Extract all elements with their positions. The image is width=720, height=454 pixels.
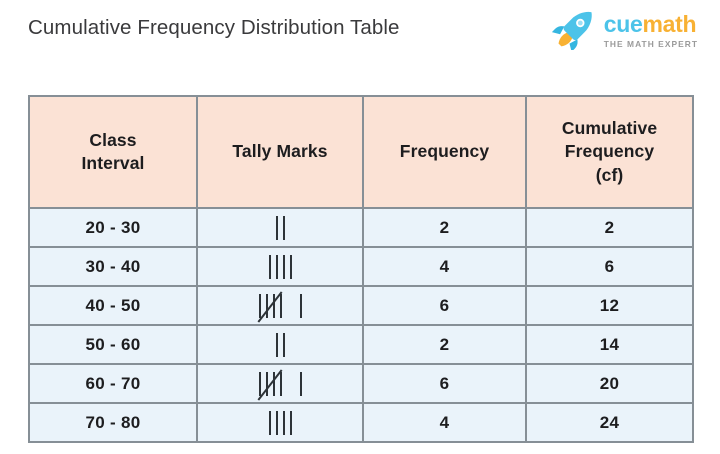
frequency-table-container: Class Interval Tally Marks Frequency Cum… — [28, 95, 692, 443]
tally-mark — [300, 372, 302, 396]
table-row: 50 - 60214 — [29, 325, 693, 364]
table-row: 30 - 4046 — [29, 247, 693, 286]
tally-mark — [273, 372, 275, 396]
tally-marks — [273, 326, 287, 363]
cell-cumulative-frequency: 6 — [526, 247, 693, 286]
tally-group — [297, 371, 304, 397]
cell-tally-marks — [197, 403, 363, 442]
column-header-class-interval: Class Interval — [29, 96, 197, 208]
column-header-cumulative-frequency: Cumulative Frequency (cf) — [526, 96, 693, 208]
cell-class-interval: 40 - 50 — [29, 286, 197, 325]
tally-mark — [276, 411, 278, 435]
cell-frequency: 4 — [363, 247, 526, 286]
cell-class-interval: 70 - 80 — [29, 403, 197, 442]
cell-tally-marks — [197, 286, 363, 325]
cell-cumulative-frequency: 20 — [526, 364, 693, 403]
cuemath-logo: cuemath THE MATH EXPERT — [551, 10, 698, 50]
table-row: 20 - 3022 — [29, 208, 693, 247]
logo-tagline: THE MATH EXPERT — [604, 40, 698, 48]
tally-group — [266, 254, 294, 280]
column-header-line1: Class — [89, 130, 136, 150]
table-row: 40 - 50612 — [29, 286, 693, 325]
tally-mark — [283, 411, 285, 435]
tally-marks — [256, 365, 304, 402]
cell-cumulative-frequency: 12 — [526, 286, 693, 325]
tally-group — [297, 293, 304, 319]
cell-cumulative-frequency: 24 — [526, 403, 693, 442]
cell-frequency: 2 — [363, 325, 526, 364]
cell-class-interval: 30 - 40 — [29, 247, 197, 286]
table-row: 60 - 70620 — [29, 364, 693, 403]
rocket-icon — [551, 10, 595, 50]
logo-name: cuemath — [604, 13, 697, 36]
table-header-row: Class Interval Tally Marks Frequency Cum… — [29, 96, 693, 208]
page-root: Cumulative Frequency Distribution Table — [0, 0, 720, 454]
cell-cumulative-frequency: 14 — [526, 325, 693, 364]
logo-name-cue: cue — [604, 11, 643, 37]
column-header-line3: (cf) — [596, 165, 624, 185]
page-title: Cumulative Frequency Distribution Table — [28, 16, 400, 40]
tally-marks — [266, 248, 294, 285]
tally-mark — [280, 372, 282, 396]
tally-marks — [273, 209, 287, 246]
logo-name-math: math — [643, 11, 697, 37]
tally-mark — [276, 333, 278, 357]
cell-frequency: 6 — [363, 364, 526, 403]
tally-marks — [256, 287, 304, 324]
table-row: 70 - 80424 — [29, 403, 693, 442]
tally-mark — [290, 255, 292, 279]
tally-mark — [283, 333, 285, 357]
tally-group — [266, 410, 294, 436]
cell-frequency: 6 — [363, 286, 526, 325]
cell-frequency: 4 — [363, 403, 526, 442]
cell-tally-marks — [197, 364, 363, 403]
page-header: Cumulative Frequency Distribution Table — [0, 0, 720, 72]
tally-mark — [276, 255, 278, 279]
cell-tally-marks — [197, 208, 363, 247]
table-body: 20 - 302230 - 404640 - 5061250 - 6021460… — [29, 208, 693, 442]
cell-frequency: 2 — [363, 208, 526, 247]
cumulative-frequency-table: Class Interval Tally Marks Frequency Cum… — [28, 95, 694, 443]
tally-mark — [283, 216, 285, 240]
cell-class-interval: 20 - 30 — [29, 208, 197, 247]
column-header-line1: Frequency — [400, 141, 489, 161]
column-header-line1: Cumulative — [562, 118, 657, 138]
table-header: Class Interval Tally Marks Frequency Cum… — [29, 96, 693, 208]
cell-class-interval: 50 - 60 — [29, 325, 197, 364]
tally-group — [256, 371, 284, 397]
tally-group — [256, 293, 284, 319]
cell-cumulative-frequency: 2 — [526, 208, 693, 247]
column-header-line2: Interval — [81, 153, 144, 173]
tally-mark — [269, 255, 271, 279]
tally-mark — [283, 255, 285, 279]
tally-group — [273, 332, 287, 358]
column-header-frequency: Frequency — [363, 96, 526, 208]
cell-tally-marks — [197, 247, 363, 286]
cell-class-interval: 60 - 70 — [29, 364, 197, 403]
tally-group — [273, 215, 287, 241]
logo-wordmark: cuemath THE MATH EXPERT — [604, 12, 698, 48]
tally-mark — [290, 411, 292, 435]
tally-mark — [259, 294, 261, 318]
column-header-tally-marks: Tally Marks — [197, 96, 363, 208]
tally-mark — [269, 411, 271, 435]
tally-mark — [273, 294, 275, 318]
column-header-line1: Tally Marks — [232, 141, 327, 161]
tally-marks — [266, 404, 294, 441]
tally-mark — [280, 294, 282, 318]
column-header-line2: Frequency — [565, 141, 654, 161]
tally-mark — [276, 216, 278, 240]
cell-tally-marks — [197, 325, 363, 364]
tally-mark — [300, 294, 302, 318]
tally-mark — [259, 372, 261, 396]
